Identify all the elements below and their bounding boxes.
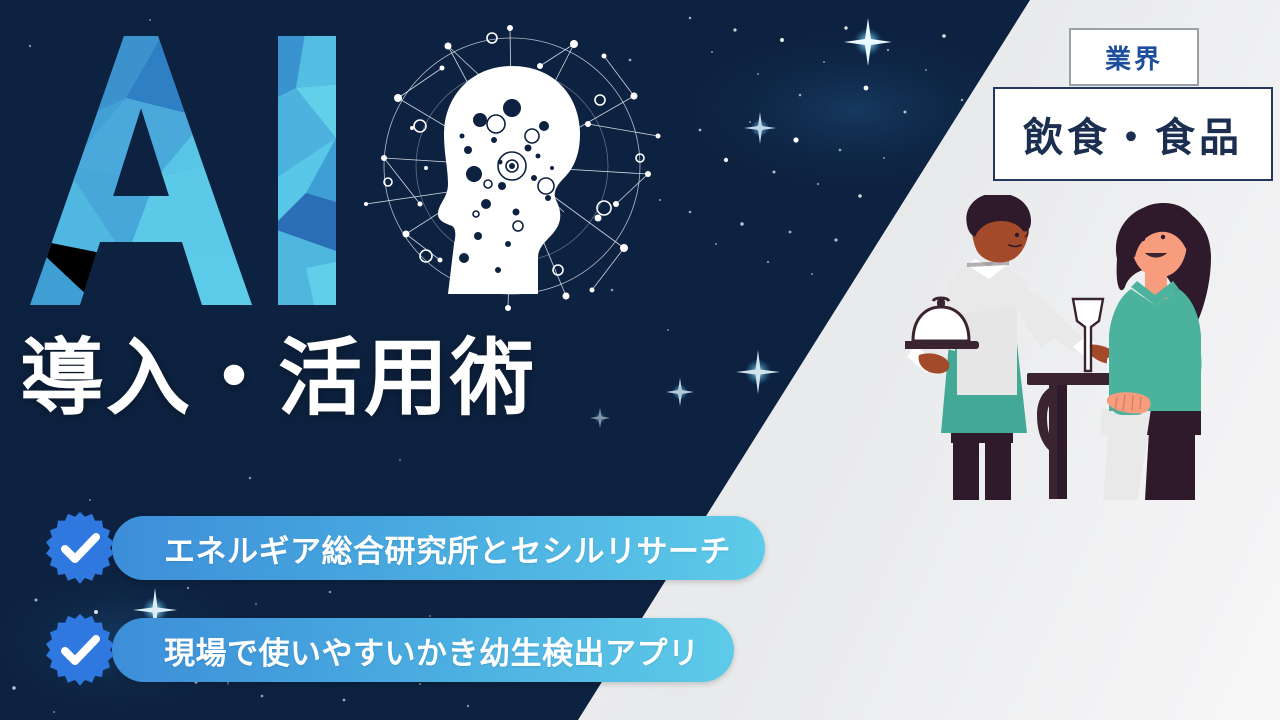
- feature-bullet-list: エネルギア総合研究所とセシルリサーチ 現場で使いやすいかき幼生検出アプリ: [44, 512, 944, 716]
- restaurant-service-illustration: [905, 195, 1235, 510]
- industry-tag-box: 業界: [1069, 28, 1199, 86]
- check-badge-icon: [44, 512, 116, 584]
- ai-logo-wordmark: [6, 28, 356, 313]
- bullet-pill[interactable]: 現場で使いやすいかき幼生検出アプリ: [112, 618, 734, 682]
- page-title: 導入・活用術: [20, 318, 700, 438]
- bullet-label: 現場で使いやすいかき幼生検出アプリ: [164, 628, 700, 673]
- industry-tag-label: 業界: [1105, 39, 1163, 76]
- ai-neural-head-icon: [352, 8, 672, 328]
- list-item[interactable]: エネルギア総合研究所とセシルリサーチ: [44, 512, 944, 584]
- list-item[interactable]: 現場で使いやすいかき幼生検出アプリ: [44, 614, 944, 686]
- industry-badge: 飲食・食品 業界: [993, 28, 1273, 168]
- bullet-pill[interactable]: エネルギア総合研究所とセシルリサーチ: [112, 516, 765, 580]
- bullet-label: エネルギア総合研究所とセシルリサーチ: [164, 526, 731, 571]
- check-badge-icon: [44, 614, 116, 686]
- slide-canvas: 導入・活用術 エネルギア総合研究所とセシルリサーチ 現場で使い: [0, 0, 1280, 720]
- industry-name-box: 飲食・食品: [993, 87, 1273, 181]
- customer-figure: [1101, 203, 1211, 500]
- ai-letter-i: [266, 28, 356, 313]
- industry-name-label: 飲食・食品: [1023, 105, 1243, 163]
